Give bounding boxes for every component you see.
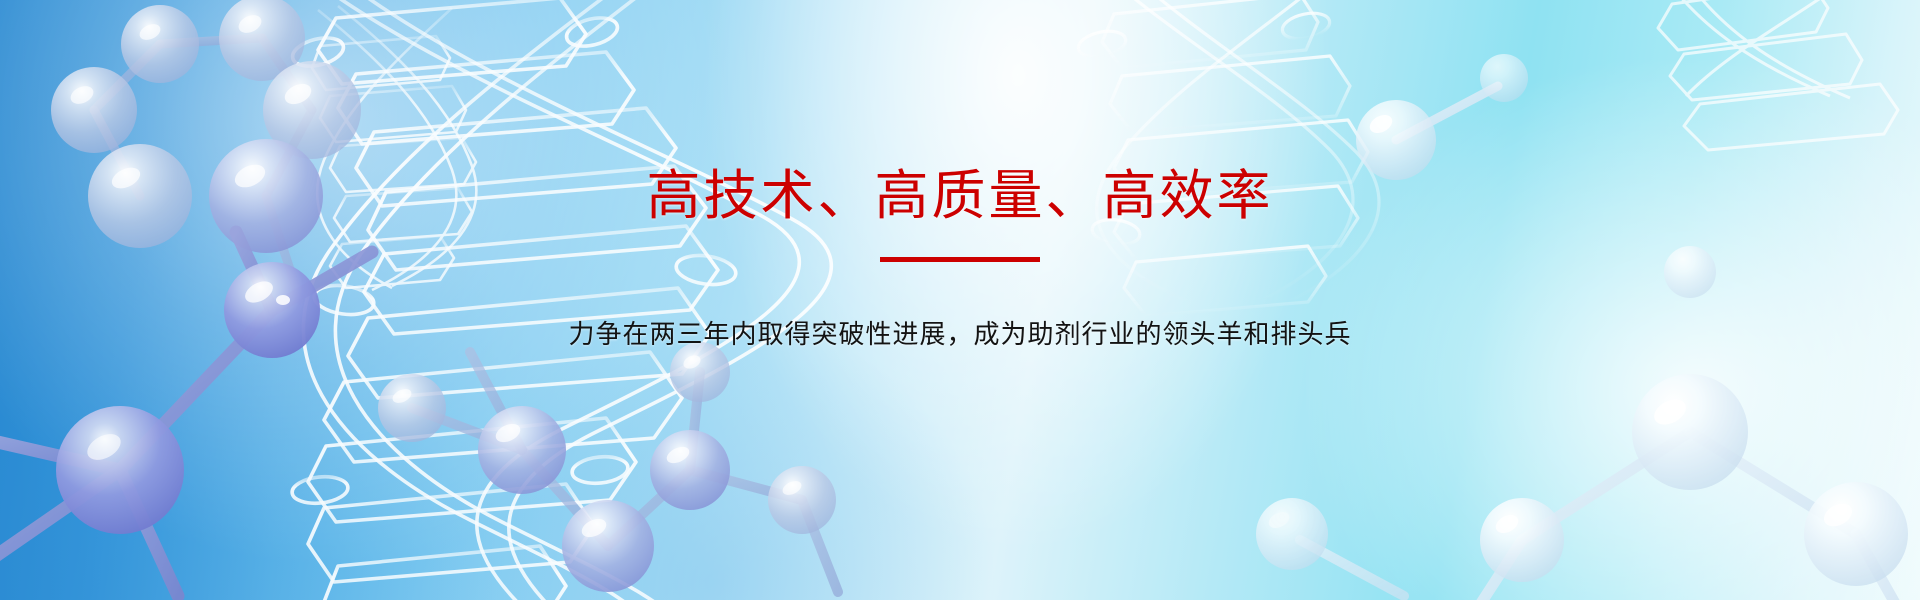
page-title: 高技术、高质量、高效率: [647, 168, 1274, 225]
banner-content: 高技术、高质量、高效率 力争在两三年内取得突破性进展，成为助剂行业的领头羊和排头…: [0, 0, 1920, 600]
page-subtitle: 力争在两三年内取得突破性进展，成为助剂行业的领头羊和排头兵: [568, 314, 1351, 351]
hero-banner: 高技术、高质量、高效率 力争在两三年内取得突破性进展，成为助剂行业的领头羊和排头…: [0, 0, 1920, 600]
title-divider: [880, 257, 1040, 262]
